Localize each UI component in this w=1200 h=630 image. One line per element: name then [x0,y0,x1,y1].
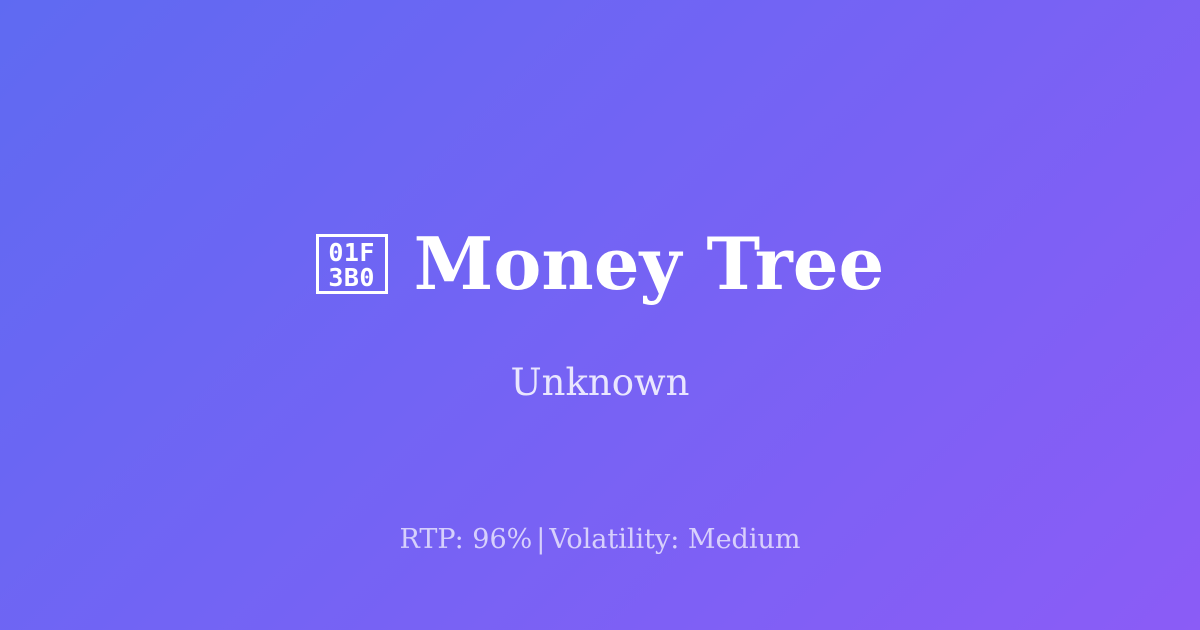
game-provider-subtitle: Unknown [0,364,1200,401]
title-row: 01F 3B0 Money Tree [0,228,1200,300]
game-meta-line: RTP: 96%|Volatility: Medium [0,526,1200,553]
meta-separator: | [532,524,549,555]
slot-machine-emoji-icon: 01F 3B0 [316,234,388,294]
rtp-value: RTP: 96% [400,524,533,555]
volatility-value: Volatility: Medium [549,524,800,555]
page-title: Money Tree [414,228,885,300]
tofu-codepoint-top: 01F [328,240,375,265]
tofu-codepoint-bottom: 3B0 [328,265,375,290]
game-og-card: 01F 3B0 Money Tree Unknown RTP: 96%|Vola… [0,0,1200,630]
